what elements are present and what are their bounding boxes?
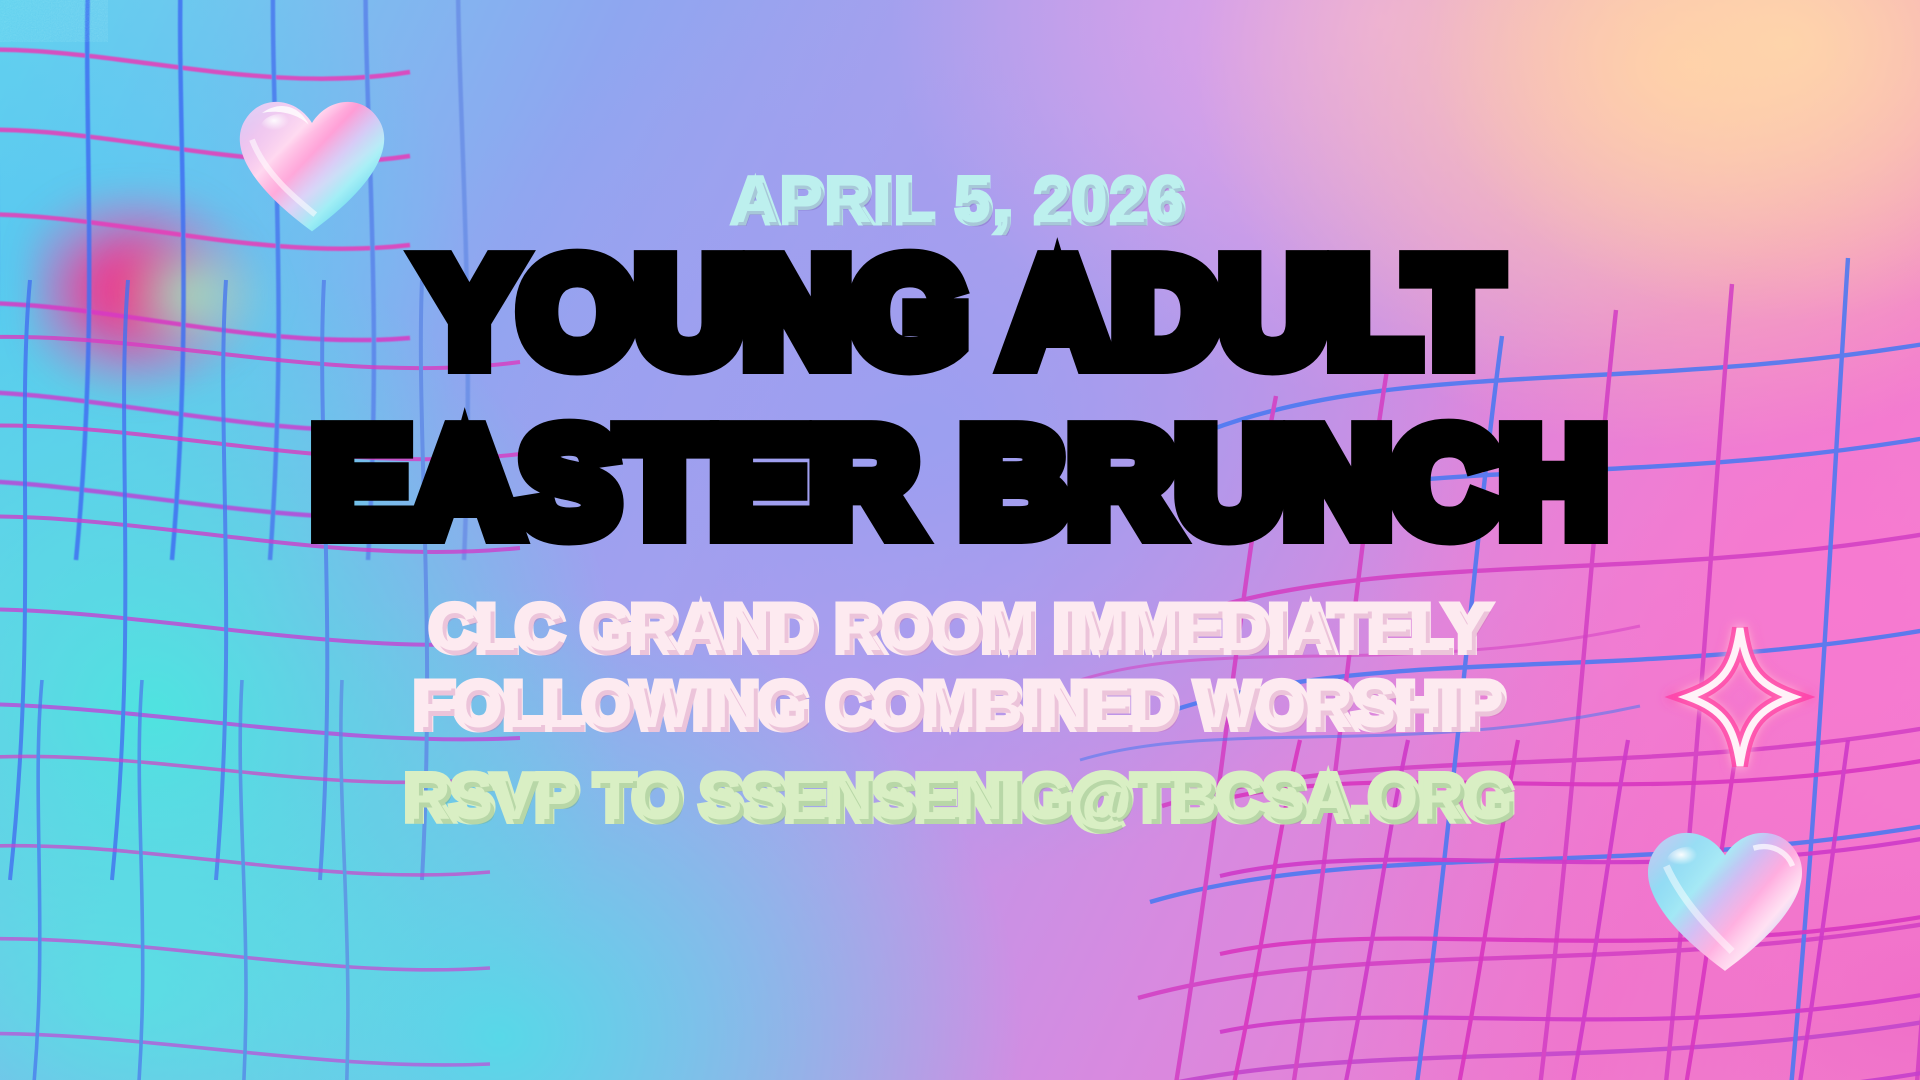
poster-canvas: APRIL 5, 2026 YOUNG ADULT EASTER BRUNCH … [0,0,1920,1080]
event-title: YOUNG ADULT EASTER BRUNCH [312,233,1608,551]
event-location-line-1: CLC GRAND ROOM IMMEDIATELY [415,597,1505,661]
event-location-line-2: FOLLOWING COMBINED WORSHIP [415,674,1505,738]
event-rsvp: RSVP TO SSENSENIG@TBCSA.ORG [406,768,1514,830]
event-title-line-2: EASTER BRUNCH [312,415,1608,551]
poster-text-content: APRIL 5, 2026 YOUNG ADULT EASTER BRUNCH … [0,0,1920,1080]
event-title-line-1: YOUNG ADULT [312,245,1608,381]
event-date: APRIL 5, 2026 [733,170,1188,233]
event-location-block: CLC GRAND ROOM IMMEDIATELY FOLLOWING COM… [415,597,1505,738]
